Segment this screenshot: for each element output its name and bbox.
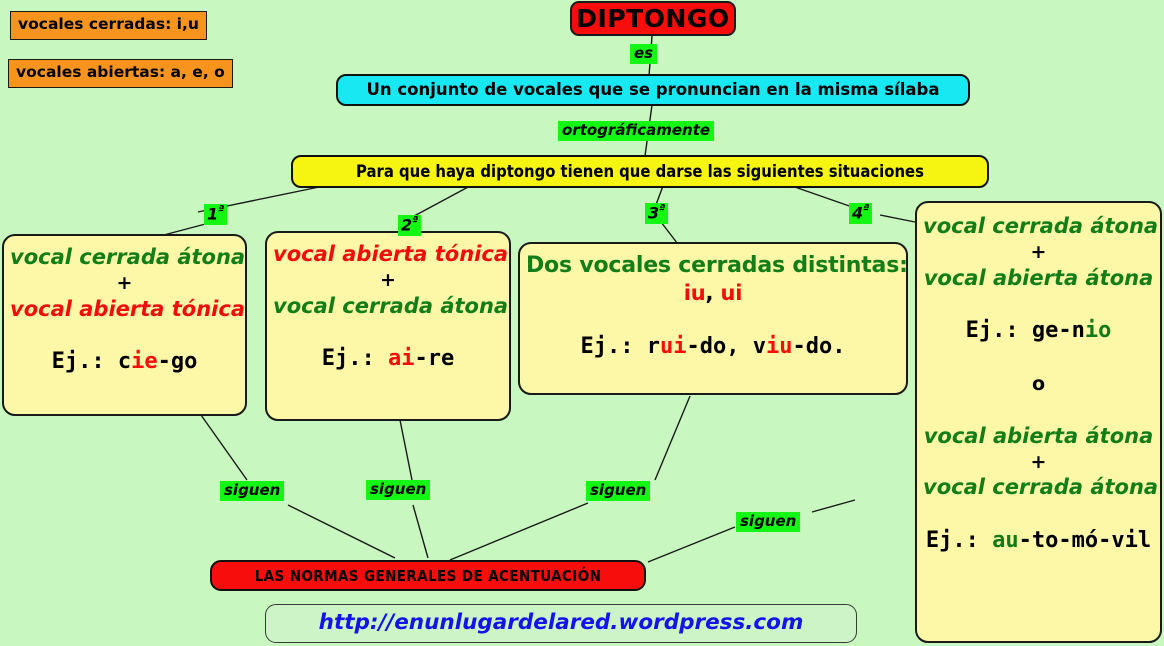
card-3-example-b-prefix: v: [739, 334, 766, 359]
card-4-example-2: Ej.: au-to-mó-vil: [923, 527, 1154, 556]
card-3-example: Ej.: rui-do, viu-do.: [526, 333, 900, 362]
card-3-pair: iu, ui: [526, 280, 900, 307]
line-siguen1-to-conclusion: [288, 505, 395, 558]
concept-map-canvas: vocales cerradas: i,u vocales abiertas: …: [0, 0, 1164, 646]
card-4-line-3: vocal abierta átona: [923, 423, 1154, 450]
connector-label-first: 1ª: [204, 204, 227, 225]
line-card1-to-siguen1: [201, 415, 247, 480]
conclusion-box: LAS NORMAS GENERALES DE ACENTUACIÓN: [210, 560, 646, 591]
connector-label-siguen-2: siguen: [366, 480, 430, 500]
ordinal-number-3: 3: [648, 203, 659, 222]
ordinal-sup-4: ª: [863, 202, 869, 215]
card-4-line-2: vocal abierta átona: [923, 265, 1154, 292]
card-1-example-highlight: ie: [131, 349, 158, 374]
card-4-operator-2: +: [923, 450, 1154, 475]
card-2-example-prefix: Ej.:: [322, 346, 388, 371]
card-4-line-1: vocal cerrada átona: [923, 213, 1154, 240]
card-3-example-b-highlight: iu: [766, 334, 793, 359]
legend-open-vowels: vocales abiertas: a, e, o: [8, 59, 233, 88]
card-1-operator: +: [10, 271, 239, 296]
card-3-example-a-highlight: ui: [660, 334, 687, 359]
source-url-link[interactable]: http://enunlugardelared.wordpress.com: [265, 604, 857, 643]
connector-label-siguen-3: siguen: [586, 481, 650, 501]
ordinal-number-4: 4: [852, 203, 863, 222]
line-siguen4-to-conclusion: [648, 527, 735, 562]
connector-label-second: 2ª: [398, 215, 421, 236]
card-2-line-1: vocal abierta tónica: [273, 241, 503, 268]
definition-box: Un conjunto de vocales que se pronuncian…: [336, 74, 970, 106]
card-2-example-suffix: -re: [414, 346, 454, 371]
card-4-example-1: Ej.: ge-nio: [923, 317, 1154, 346]
card-4-example-2-highlight: au: [992, 528, 1019, 553]
card-2-operator: +: [273, 268, 503, 293]
connector-label-siguen-4: siguen: [736, 512, 800, 532]
rule-card-4: vocal cerrada átona + vocal abierta áton…: [915, 201, 1162, 643]
rule-card-3: Dos vocales cerradas distintas: iu, ui E…: [518, 242, 908, 395]
card-4-example-2-prefix: Ej.:: [926, 528, 992, 553]
card-4-example-2-suffix: -to-mó-vil: [1019, 528, 1151, 553]
ordinal-sup-1: ª: [218, 203, 224, 216]
card-4-alternative: o: [923, 372, 1154, 397]
card-3-heading: Dos vocales cerradas distintas:: [526, 252, 900, 280]
connector-label-third: 3ª: [645, 203, 668, 224]
ordinal-sup-3: ª: [659, 202, 665, 215]
condition-box: Para que haya diptongo tienen que darse …: [291, 155, 989, 188]
card-4-operator-1: +: [923, 240, 1154, 265]
card-3-example-a-prefix: Ej.: r: [581, 334, 660, 359]
card-1-example-prefix: Ej.: c: [52, 349, 131, 374]
line-card3-to-siguen3: [655, 396, 690, 480]
card-4-line-4: vocal cerrada átona: [923, 474, 1154, 501]
connector-label-ortograficamente: ortográficamente: [558, 121, 714, 141]
line-card4-to-siguen4: [812, 500, 855, 512]
rule-card-1: vocal cerrada átona + vocal abierta tóni…: [2, 234, 247, 416]
legend-closed-vowels: vocales cerradas: i,u: [10, 11, 207, 40]
card-3-pair-2: ui: [720, 281, 742, 305]
ordinal-number-2: 2: [401, 215, 412, 234]
line-siguen2-to-conclusion: [413, 505, 428, 558]
card-2-example-highlight: ai: [388, 346, 415, 371]
card-1-line-1: vocal cerrada átona: [10, 244, 239, 271]
ordinal-number-1: 1: [207, 204, 218, 223]
card-4-example-1-highlight: io: [1085, 318, 1112, 343]
connector-label-fourth: 4ª: [849, 203, 872, 224]
card-3-example-b-suffix: -do.: [792, 334, 845, 359]
card-1-example-suffix: -go: [158, 349, 198, 374]
card-4-example-1-prefix: Ej.: ge-n: [966, 318, 1085, 343]
rule-card-2: vocal abierta tónica + vocal cerrada áto…: [265, 231, 511, 421]
card-2-example: Ej.: ai-re: [273, 345, 503, 374]
card-1-example: Ej.: cie-go: [10, 348, 239, 377]
connector-label-siguen-1: siguen: [220, 481, 284, 501]
line-card2-to-siguen2: [400, 420, 412, 480]
card-3-pair-separator: ,: [706, 281, 714, 305]
card-3-pair-1: iu: [684, 281, 706, 305]
line-condition-to-card4: [792, 186, 855, 208]
page-title: DIPTONGO: [570, 1, 736, 36]
line-siguen3-to-conclusion: [450, 503, 588, 560]
card-2-line-2: vocal cerrada átona: [273, 293, 503, 320]
card-3-example-a-suffix: -do,: [687, 334, 740, 359]
connector-label-es: es: [630, 44, 657, 64]
ordinal-sup-2: ª: [412, 214, 418, 227]
card-1-line-2: vocal abierta tónica: [10, 296, 239, 323]
line-ord4-to-card4: [880, 215, 915, 222]
